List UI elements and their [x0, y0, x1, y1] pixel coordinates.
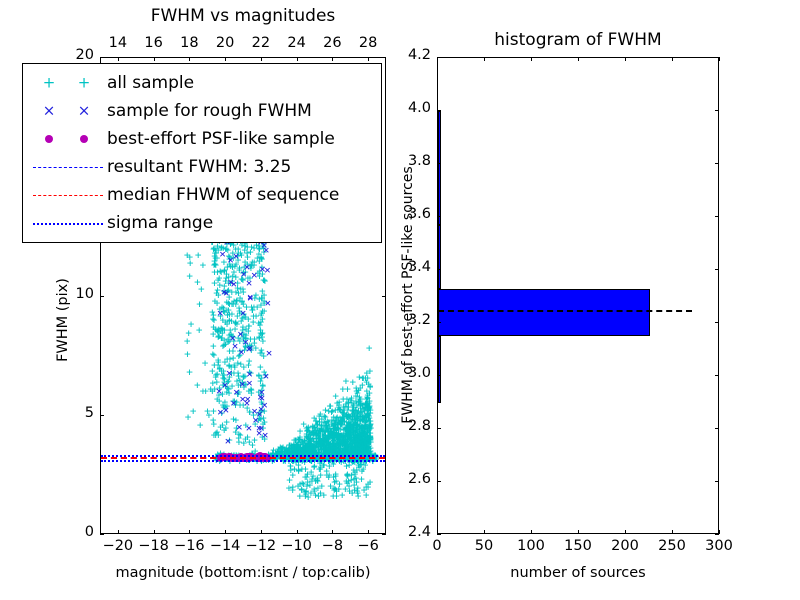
scatter-point-all: +	[222, 423, 229, 434]
scatter-point-all: +	[257, 324, 264, 335]
legend-key-dashed-line-icon	[29, 186, 107, 204]
histogram-ylabel: FWHM of best-effort PSF-like sources	[400, 60, 416, 530]
scatter-xtick	[225, 530, 226, 534]
hist-xtick	[484, 530, 485, 534]
legend-row-1: ××sample for rough FWHM	[29, 97, 373, 125]
hist-xticklabel: 200	[600, 538, 650, 554]
hist-xticklabel: 300	[694, 538, 744, 554]
scatter-ylabel: FWHM (pix)	[55, 220, 71, 420]
scatter-point-rough: ×	[263, 370, 270, 381]
legend-row-3: resultant FWHM: 3.25	[29, 153, 373, 181]
legend-row-4: median FHWM of sequence	[29, 181, 373, 209]
hist-ytick-right	[715, 57, 719, 58]
scatter-topaxis-tick	[261, 57, 262, 61]
legend-key-filled-dot-icon	[29, 130, 107, 148]
scatter-topaxis-ticklabel: 24	[277, 35, 317, 51]
scatter-point-rough: ×	[226, 367, 233, 378]
hist-ytick-right	[715, 375, 719, 376]
hist-ytick-right	[715, 481, 719, 482]
hist-ytick	[437, 428, 441, 429]
scatter-xtick	[297, 530, 298, 534]
hist-ytick	[437, 322, 441, 323]
hist-ytick	[437, 269, 441, 270]
scatter-ytick-right	[382, 534, 386, 535]
scatter-point-all: +	[216, 363, 223, 374]
legend-filled-dot-icon	[80, 135, 88, 143]
scatter-sigma-range-lower	[101, 460, 385, 462]
scatter-point-all: +	[361, 414, 368, 425]
legend-dashed-line-icon	[33, 167, 103, 168]
scatter-point-all: +	[206, 410, 213, 421]
scatter-xtick	[368, 530, 369, 534]
scatter-point-all: +	[316, 463, 323, 474]
hist-xtick	[625, 530, 626, 534]
scatter-point-rough: ×	[264, 264, 271, 275]
hist-xtick	[719, 530, 720, 534]
histogram-title: histogram of FWHM	[437, 30, 719, 50]
hist-xtick	[531, 530, 532, 534]
scatter-point-all: +	[340, 384, 347, 395]
scatter-point-rough: ×	[247, 292, 254, 303]
hist-xtick	[578, 530, 579, 534]
scatter-point-all: +	[194, 380, 201, 391]
scatter-point-all: +	[364, 399, 371, 410]
legend-key-dashed-line-icon	[29, 158, 107, 176]
legend-label: best-effort PSF-like sample	[107, 130, 335, 148]
scatter-topaxis-tick	[332, 57, 333, 61]
hist-xticklabel: 100	[506, 538, 556, 554]
hist-xtick-top	[672, 57, 673, 61]
scatter-point-all: +	[258, 300, 265, 311]
scatter-ytick-right	[382, 415, 386, 416]
scatter-topaxis-tick	[154, 57, 155, 61]
scatter-point-all: +	[287, 461, 294, 472]
hist-xticklabel: 250	[647, 538, 697, 554]
scatter-point-rough: ×	[230, 397, 237, 408]
scatter-point-rough: ×	[266, 347, 273, 358]
legend-plus-icon: +	[43, 76, 56, 91]
scatter-point-rough: ×	[258, 422, 265, 433]
hist-xtick-top	[625, 57, 626, 61]
scatter-ytick	[100, 415, 104, 416]
scatter-topaxis-tick	[118, 57, 119, 61]
scatter-point-all: +	[186, 271, 193, 282]
legend-label: sigma range	[107, 214, 213, 232]
scatter-ytick-right	[382, 296, 386, 297]
scatter-point-all: +	[250, 317, 257, 328]
scatter-xtick	[332, 530, 333, 534]
hist-xticklabel: 150	[553, 538, 603, 554]
scatter-yticklabel: 20	[54, 47, 94, 63]
scatter-point-all: +	[215, 330, 222, 341]
hist-ytick	[437, 534, 441, 535]
hist-ytick-right	[715, 110, 719, 111]
scatter-point-all: +	[202, 358, 209, 369]
scatter-ytick	[100, 57, 104, 58]
scatter-point-all: +	[198, 283, 205, 294]
hist-ytick-right	[715, 534, 719, 535]
legend-row-0: ++all sample	[29, 69, 373, 97]
histogram-bars-layer	[438, 58, 718, 533]
hist-ytick-right	[715, 269, 719, 270]
legend-key-plus-icon: ++	[29, 74, 107, 92]
legend-label: sample for rough FWHM	[107, 102, 312, 120]
hist-xtick	[672, 530, 673, 534]
hist-ytick	[437, 163, 441, 164]
scatter-xtick	[118, 530, 119, 534]
scatter-point-all: +	[197, 419, 204, 430]
scatter-point-rough: ×	[242, 337, 249, 348]
scatter-topaxis-ticklabel: 18	[169, 35, 209, 51]
scatter-point-rough: ×	[246, 378, 253, 389]
hist-xtick-top	[578, 57, 579, 61]
hist-ytick	[437, 57, 441, 58]
hist-xticklabel: 50	[459, 538, 509, 554]
hist-xtick-top	[531, 57, 532, 61]
scatter-topaxis-ticklabel: 16	[134, 35, 174, 51]
scatter-topaxis-tick	[297, 57, 298, 61]
histogram-axes	[437, 57, 719, 534]
scatter-point-all: +	[356, 393, 363, 404]
scatter-title: FWHM vs magnitudes	[100, 6, 386, 26]
scatter-point-all: +	[348, 432, 355, 443]
scatter-point-all: +	[212, 259, 219, 270]
scatter-topaxis-tick	[225, 57, 226, 61]
hist-ytick	[437, 216, 441, 217]
scatter-topaxis-tick	[189, 57, 190, 61]
scatter-point-all: +	[321, 410, 328, 421]
scatter-point-rough: ×	[217, 307, 224, 318]
legend-dashed-line-icon	[33, 195, 103, 196]
scatter-point-all: +	[356, 371, 363, 382]
scatter-point-all: +	[184, 250, 191, 261]
figure-canvas: FWHM vs magnitudes +++++++++++++++++++++…	[0, 0, 800, 600]
scatter-point-all: +	[331, 420, 338, 431]
scatter-topaxis-tick	[368, 57, 369, 61]
hist-ytick	[437, 481, 441, 482]
legend-label: all sample	[107, 74, 194, 92]
scatter-point-rough: ×	[265, 297, 272, 308]
scatter-point-rough: ×	[219, 248, 226, 259]
hist-ytick-right	[715, 428, 719, 429]
legend-dashdot-line-icon	[33, 223, 103, 225]
scatter-point-rough: ×	[239, 378, 246, 389]
scatter-point-all: +	[367, 430, 374, 441]
scatter-point-all: +	[351, 418, 358, 429]
scatter-point-all: +	[186, 367, 193, 378]
legend-filled-dot-icon	[45, 135, 53, 143]
hist-ytick-right	[715, 322, 719, 323]
scatter-point-all: +	[210, 244, 217, 255]
scatter-point-all: +	[184, 349, 191, 360]
histogram-bar	[438, 111, 441, 225]
scatter-point-all: +	[289, 481, 296, 492]
hist-ytick-right	[715, 216, 719, 217]
scatter-point-rough: ×	[227, 255, 234, 266]
scatter-topaxis-ticklabel: 14	[98, 35, 138, 51]
scatter-point-all: +	[327, 400, 334, 411]
scatter-point-all: +	[258, 344, 265, 355]
legend-cross-x-icon: ×	[78, 104, 91, 119]
scatter-point-all: +	[210, 310, 217, 321]
legend-row-5: sigma range	[29, 209, 373, 237]
scatter-point-all: +	[335, 402, 342, 413]
histogram-bar	[438, 225, 441, 289]
histogram-median-fwhm-marker	[438, 310, 692, 312]
scatter-xtick	[154, 530, 155, 534]
legend-label: median FHWM of sequence	[107, 186, 339, 204]
scatter-ytick	[100, 296, 104, 297]
scatter-xlabel: magnitude (bottom:isnt / top:calib)	[100, 565, 386, 581]
scatter-topaxis-ticklabel: 22	[241, 35, 281, 51]
scatter-point-all: +	[337, 432, 344, 443]
scatter-point-all: +	[196, 298, 203, 309]
scatter-point-all: +	[312, 475, 319, 486]
scatter-point-all: +	[246, 356, 253, 367]
hist-ytick	[437, 110, 441, 111]
scatter-point-rough: ×	[222, 380, 229, 391]
scatter-point-rough: ×	[223, 404, 230, 415]
hist-xticklabel: 0	[412, 538, 462, 554]
histogram-bar	[438, 336, 441, 402]
scatter-point-all: +	[304, 425, 311, 436]
scatter-point-all: +	[196, 325, 203, 336]
hist-ytick	[437, 375, 441, 376]
scatter-point-all: +	[184, 336, 191, 347]
scatter-point-all: +	[367, 477, 374, 488]
scatter-point-all: +	[349, 487, 356, 498]
scatter-point-all: +	[354, 407, 361, 418]
scatter-point-rough: ×	[221, 287, 228, 298]
scatter-topaxis-ticklabel: 26	[312, 35, 352, 51]
legend-plus-icon: +	[78, 76, 91, 91]
scatter-point-rough: ×	[240, 308, 247, 319]
scatter-point-all: +	[295, 464, 302, 475]
scatter-point-rough: ×	[251, 269, 258, 280]
scatter-point-rough: ×	[236, 422, 243, 433]
legend-cross-x-icon: ×	[43, 104, 56, 119]
scatter-point-rough: ×	[244, 262, 251, 273]
scatter-topaxis-ticklabel: 28	[348, 35, 388, 51]
scatter-xticklabel: −6	[346, 538, 390, 554]
scatter-xtick	[189, 530, 190, 534]
scatter-point-all: +	[185, 412, 192, 423]
legend-row-2: best-effort PSF-like sample	[29, 125, 373, 153]
scatter-point-all: +	[213, 288, 220, 299]
scatter-point-rough: ×	[229, 332, 236, 343]
hist-xtick-top	[719, 57, 720, 61]
scatter-point-rough: ×	[257, 392, 264, 403]
scatter-ytick	[100, 534, 104, 535]
scatter-point-all: +	[229, 298, 236, 309]
scatter-point-all: +	[339, 489, 346, 500]
hist-xtick-top	[484, 57, 485, 61]
scatter-point-rough: ×	[244, 393, 251, 404]
histogram-xlabel: number of sources	[437, 565, 719, 581]
scatter-ytick-right	[382, 57, 386, 58]
legend-label: resultant FWHM: 3.25	[107, 158, 291, 176]
scatter-sigma-range-upper	[101, 455, 385, 457]
scatter-point-rough: ×	[251, 405, 258, 416]
scatter-xtick	[261, 530, 262, 534]
histogram-bar	[438, 289, 650, 337]
legend-key-cross-x-icon: ××	[29, 102, 107, 120]
scatter-topaxis-ticklabel: 20	[205, 35, 245, 51]
scatter-point-all: +	[195, 249, 202, 260]
scatter-yticklabel: 0	[54, 524, 94, 540]
scatter-point-all: +	[319, 481, 326, 492]
scatter-point-all: +	[215, 429, 222, 440]
scatter-point-all: +	[298, 484, 305, 495]
plot-legend: ++all sample××sample for rough FWHMbest-…	[22, 63, 382, 243]
scatter-point-rough: ×	[246, 422, 253, 433]
legend-key-dashdot-line-icon	[29, 214, 107, 232]
scatter-point-rough: ×	[225, 435, 232, 446]
scatter-point-all: +	[366, 343, 373, 354]
hist-ytick-right	[715, 163, 719, 164]
